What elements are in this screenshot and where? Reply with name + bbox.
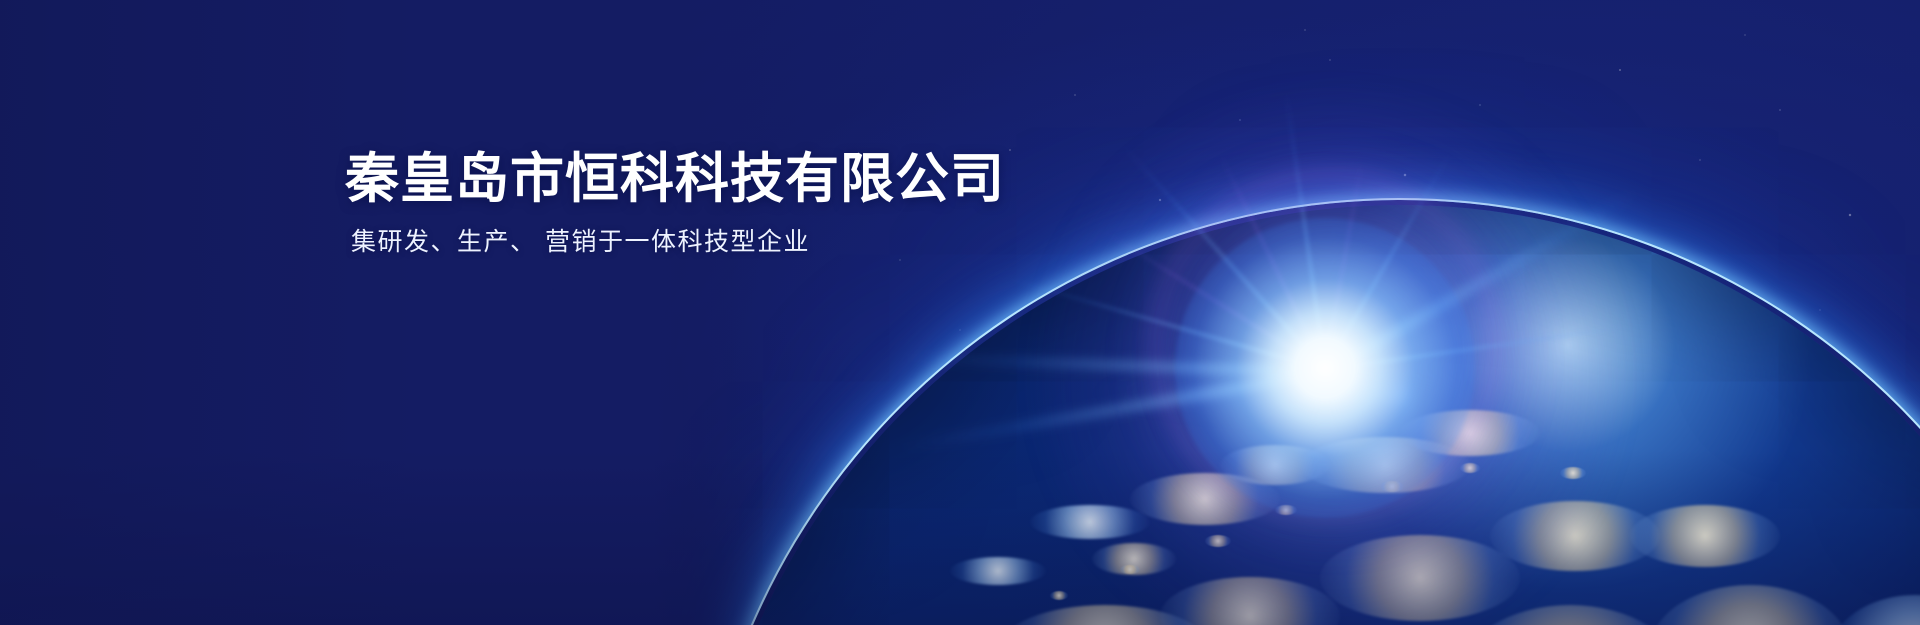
page-title: 秦皇岛市恒科科技有限公司: [345, 150, 1005, 208]
page-subtitle: 集研发、生产、 营销于一体科技型企业: [351, 226, 1005, 259]
sunrise-core: [1175, 218, 1475, 518]
hero-text-block: 秦皇岛市恒科科技有限公司 集研发、生产、 营销于一体科技型企业: [345, 150, 1005, 259]
hero-banner: 秦皇岛市恒科科技有限公司 集研发、生产、 营销于一体科技型企业: [0, 0, 1920, 625]
